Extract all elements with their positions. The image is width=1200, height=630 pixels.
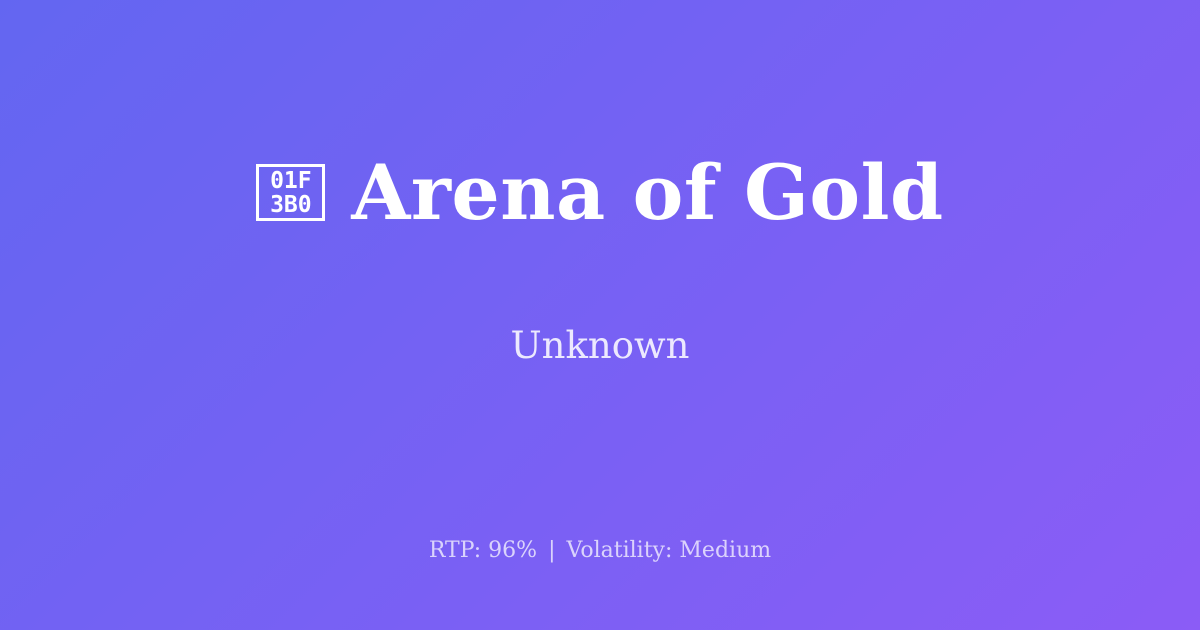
volatility-label: Volatility: [567,538,673,563]
tofu-codepoint-row-top: 01F [270,169,312,193]
meta-separator: | [544,538,559,563]
og-image-card: 01F 3B0 Arena of Gold Unknown RTP: 96% |… [0,0,1200,630]
slot-machine-icon: 01F 3B0 [256,164,325,221]
volatility-value: Medium [679,538,771,563]
tofu-codepoint-row-bottom: 3B0 [270,193,312,217]
rtp-label: RTP: [429,538,481,563]
rtp-value: 96% [488,538,537,563]
page-title: Arena of Gold [351,155,943,231]
hero-block: 01F 3B0 Arena of Gold Unknown [0,0,1200,470]
page-subtitle: Unknown [510,326,689,367]
meta-info-line: RTP: 96% | Volatility: Medium [0,538,1200,564]
title-row: 01F 3B0 Arena of Gold [256,104,943,282]
